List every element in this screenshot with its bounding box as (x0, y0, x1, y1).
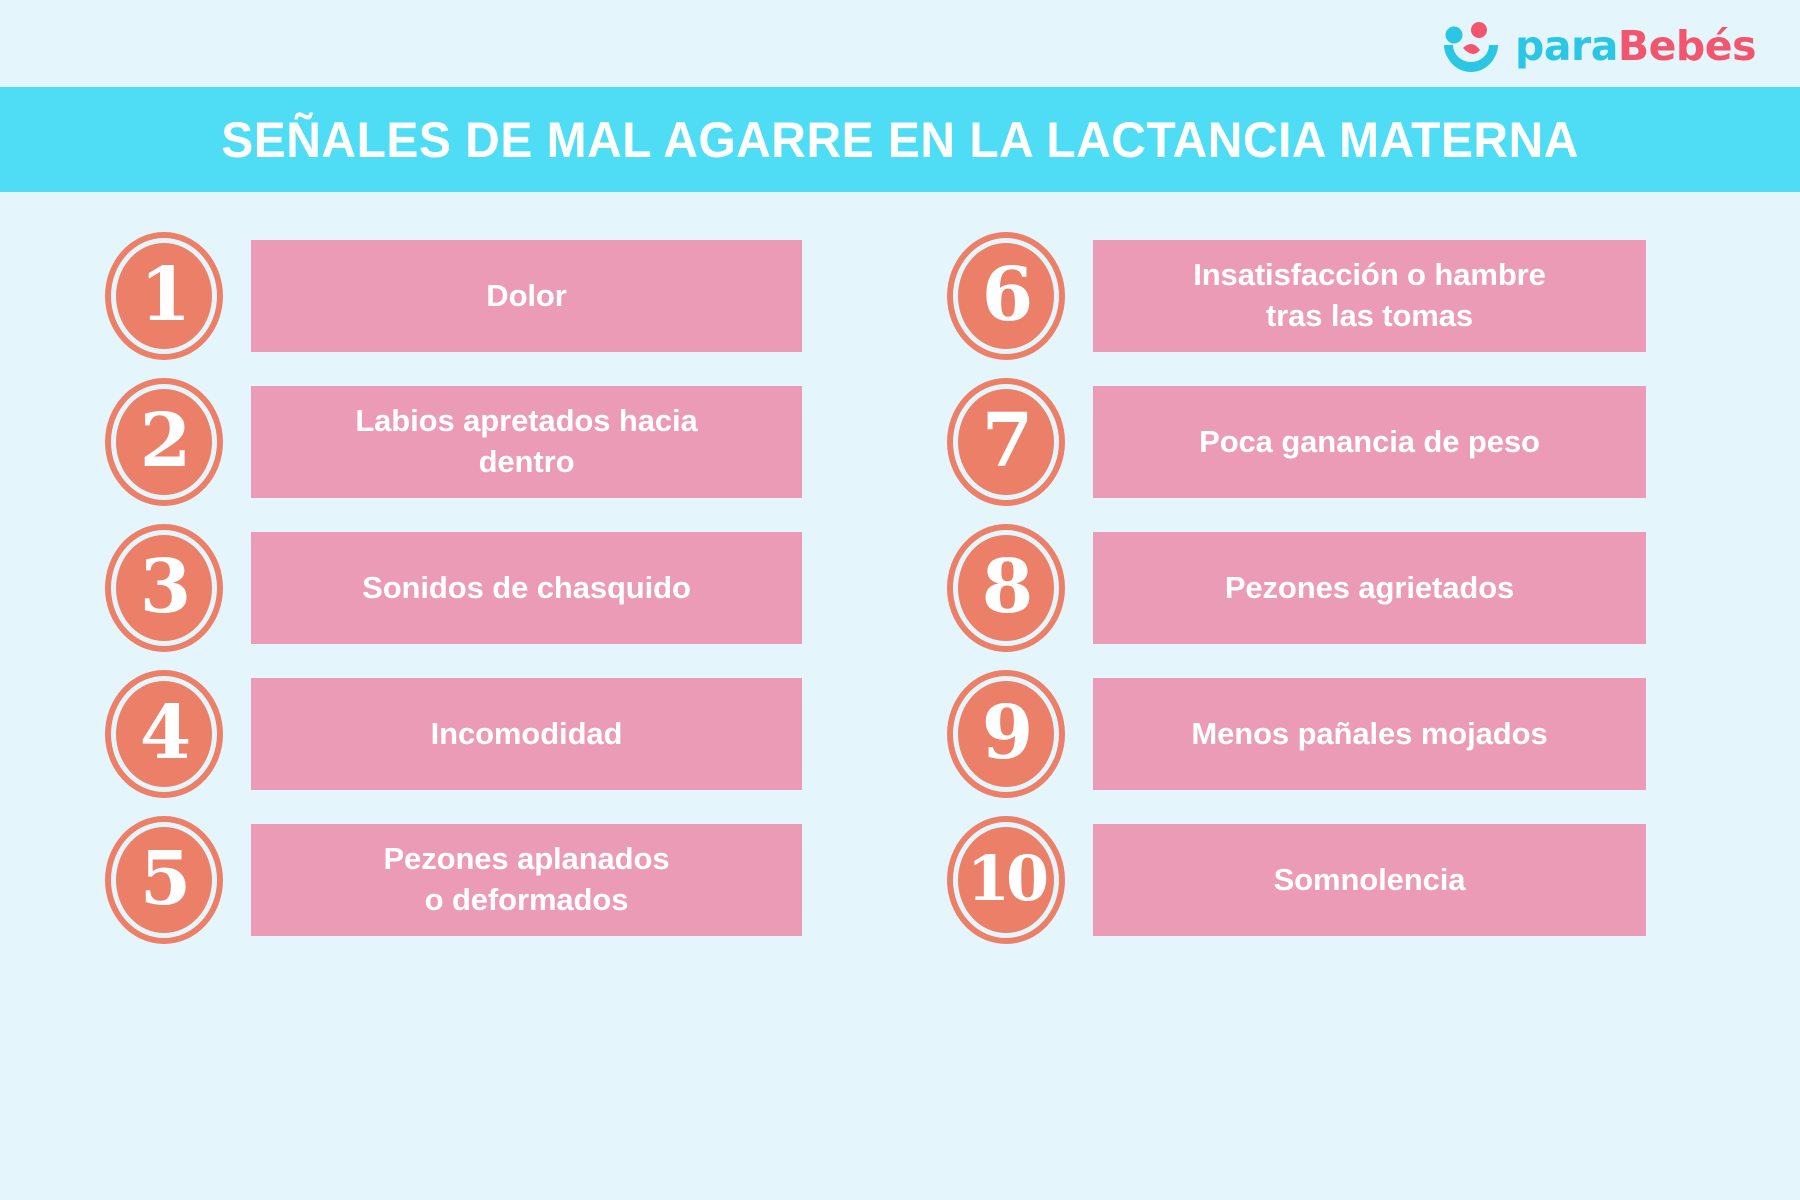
item-label-text: Sonidos de chasquido (362, 568, 691, 609)
right-column: 6 Insatisfacción o hambre tras las tomas… (900, 232, 1800, 944)
brand-bar: paraBebés (0, 0, 1800, 97)
number-badge: 3 (105, 524, 223, 652)
infographic-page: paraBebés SEÑALES DE MAL AGARRE EN LA LA… (0, 0, 1800, 1200)
item-label-box: Pezones agrietados (1093, 532, 1646, 644)
list-item[interactable]: 2 Labios apretados hacia dentro (105, 378, 900, 506)
list-item[interactable]: 7 Poca ganancia de peso (947, 378, 1800, 506)
items-grid: 1 Dolor 2 Labios apretados hacia dentro (0, 232, 1800, 944)
badge-number: 5 (140, 842, 189, 916)
item-label-box: Incomodidad (251, 678, 802, 790)
badge-number: 2 (140, 404, 189, 478)
list-item[interactable]: 3 Sonidos de chasquido (105, 524, 900, 652)
left-column: 1 Dolor 2 Labios apretados hacia dentro (0, 232, 900, 944)
item-label-text: Menos pañales mojados (1191, 714, 1547, 755)
list-item[interactable]: 5 Pezones aplanados o deformados (105, 816, 900, 944)
brand-wordmark-bebes: Bebés (1618, 22, 1756, 70)
item-label-text: Poca ganancia de peso (1199, 422, 1540, 463)
list-item[interactable]: 10 Somnolencia (947, 816, 1800, 944)
item-label-text: Somnolencia (1274, 860, 1466, 901)
item-label-text: Pezones aplanados o deformados (383, 839, 669, 921)
list-item[interactable]: 4 Incomodidad (105, 670, 900, 798)
number-badge: 1 (105, 232, 223, 360)
badge-number: 9 (982, 696, 1031, 770)
list-item[interactable]: 1 Dolor (105, 232, 900, 360)
badge-number: 6 (982, 258, 1031, 332)
item-label-text: Insatisfacción o hambre tras las tomas (1193, 255, 1546, 337)
number-badge: 6 (947, 232, 1065, 360)
badge-number: 10 (967, 848, 1045, 910)
brand-wordmark-para: para (1515, 22, 1618, 70)
list-item[interactable]: 8 Pezones agrietados (947, 524, 1800, 652)
item-label-text: Labios apretados hacia dentro (355, 401, 697, 483)
number-badge: 2 (105, 378, 223, 506)
list-item[interactable]: 9 Menos pañales mojados (947, 670, 1800, 798)
item-label-box: Dolor (251, 240, 802, 352)
parabebes-logo[interactable]: paraBebés (1441, 18, 1756, 74)
badge-number: 4 (140, 696, 189, 770)
brand-wordmark: paraBebés (1515, 26, 1756, 67)
item-label-box: Somnolencia (1093, 824, 1646, 936)
number-badge: 8 (947, 524, 1065, 652)
badge-number: 1 (140, 258, 189, 332)
badge-number: 3 (140, 550, 189, 624)
badge-number: 8 (982, 550, 1031, 624)
page-title: SEÑALES DE MAL AGARRE EN LA LACTANCIA MA… (221, 111, 1579, 169)
item-label-box: Insatisfacción o hambre tras las tomas (1093, 240, 1646, 352)
item-label-box: Labios apretados hacia dentro (251, 386, 802, 498)
number-badge: 9 (947, 670, 1065, 798)
number-badge: 5 (105, 816, 223, 944)
number-badge: 10 (947, 816, 1065, 944)
list-item[interactable]: 6 Insatisfacción o hambre tras las tomas (947, 232, 1800, 360)
title-band: SEÑALES DE MAL AGARRE EN LA LACTANCIA MA… (0, 87, 1800, 192)
smiley-baby-icon (1441, 18, 1501, 74)
item-label-box: Sonidos de chasquido (251, 532, 802, 644)
item-label-text: Dolor (486, 276, 566, 317)
item-label-box: Poca ganancia de peso (1093, 386, 1646, 498)
number-badge: 4 (105, 670, 223, 798)
item-label-box: Pezones aplanados o deformados (251, 824, 802, 936)
number-badge: 7 (947, 378, 1065, 506)
badge-number: 7 (982, 404, 1031, 478)
item-label-box: Menos pañales mojados (1093, 678, 1646, 790)
item-label-text: Pezones agrietados (1225, 568, 1514, 609)
item-label-text: Incomodidad (431, 714, 623, 755)
